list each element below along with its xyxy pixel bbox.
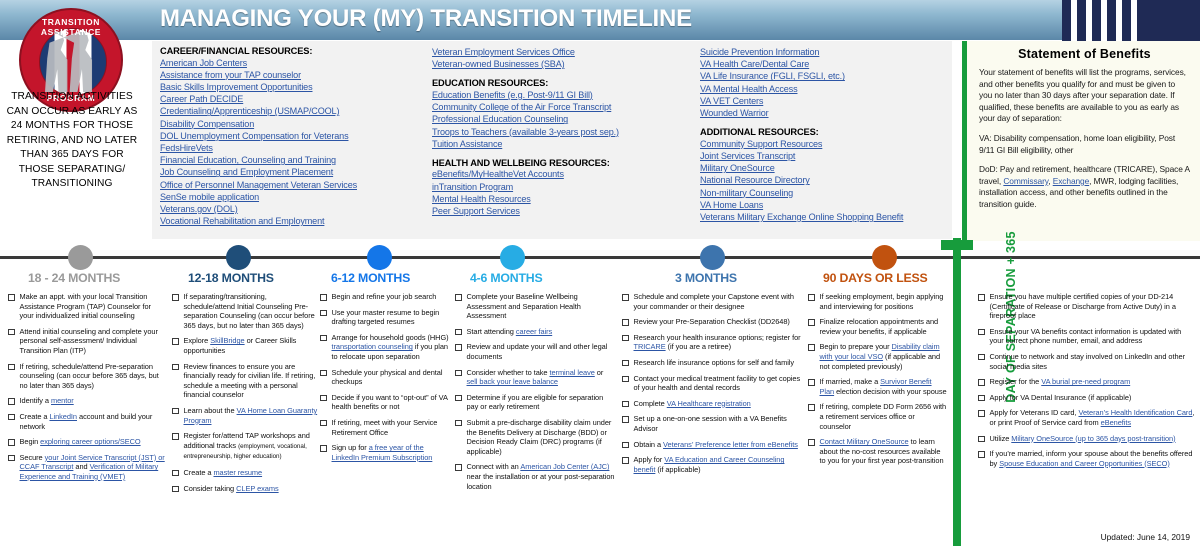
checklist-link[interactable]: LinkedIn	[49, 412, 77, 421]
checklist-text-run: Secure	[20, 453, 45, 462]
flag-stripe-8	[1122, 0, 1131, 42]
checklist-text-run: Arrange for household goods (HHG)	[332, 333, 449, 342]
timeline-label-5: 90 DAYS OR LESS	[823, 271, 928, 285]
checkbox-icon[interactable]	[978, 329, 985, 336]
checklist-item-text: Create a LinkedIn account and build your…	[20, 412, 167, 431]
checklist-item[interactable]: Use your master resume to begin drafting…	[320, 308, 453, 327]
intro-text: TRANSITION ACTIVITIES CAN OCCUR AS EARLY…	[4, 90, 140, 192]
checklist-item-text: Finalize relocation appointments and rev…	[820, 317, 949, 336]
resource-link[interactable]: VA Health Care/Dental Care	[700, 58, 948, 70]
checklist-item-text: Determine if you are eligible for separa…	[467, 393, 616, 412]
checklist-text-run: Begin and refine your job search	[332, 292, 437, 301]
checklist-item-text: If retiring, meet with your Service Reti…	[332, 418, 454, 437]
checkbox-icon[interactable]	[320, 310, 327, 317]
checklist-item-text: Submit a pre-discharge disability claim …	[467, 418, 616, 456]
checklist-text-run: Learn about the	[184, 406, 237, 415]
checkbox-icon[interactable]	[455, 344, 462, 351]
checklist-link[interactable]: VA burial pre-need program	[1041, 377, 1130, 386]
timeline-dot-0	[68, 245, 93, 270]
checklist-link[interactable]: transportation counseling	[332, 342, 413, 351]
checklist-item[interactable]: Connect with an American Job Center (AJC…	[455, 462, 615, 491]
checklist-text-run: If seeking employment, begin applying an…	[820, 292, 944, 311]
checkbox-icon[interactable]	[172, 470, 179, 477]
checklist-link[interactable]: sell back your leave balance	[467, 377, 558, 386]
col-day-of-separation-plus-365: Ensure you have multiple certified copie…	[978, 292, 1196, 474]
resources-section-gap	[700, 119, 948, 127]
flag-stripe-10	[1137, 0, 1200, 42]
timeline-dot-3	[500, 245, 525, 270]
checkbox-icon[interactable]	[622, 335, 629, 342]
checklist-text-run: If retiring, complete DD Form 2656 with …	[820, 402, 947, 430]
checklist-item[interactable]: Register for/attend TAP workshops and ad…	[172, 431, 320, 462]
checklist-text-run: Utilize	[990, 434, 1012, 443]
checklist-text-run: (if applicable)	[655, 465, 700, 474]
sob-paragraph-1: Your statement of benefits will list the…	[979, 67, 1190, 125]
checklist-item[interactable]: Arrange for household goods (HHG) transp…	[320, 333, 453, 362]
timeline-dot-5	[872, 245, 897, 270]
checkbox-icon[interactable]	[8, 329, 15, 336]
checklist-link[interactable]: eBenefits	[1101, 418, 1131, 427]
checklist-item[interactable]: Create a LinkedIn account and build your…	[8, 412, 166, 431]
checkbox-icon[interactable]	[622, 442, 629, 449]
checklist-link[interactable]: TRICARE	[634, 342, 666, 351]
checklist-text-run: Register for the	[990, 377, 1042, 386]
checklist-text-run: Ensure you have multiple certified copie…	[990, 292, 1176, 320]
checkbox-icon[interactable]	[172, 294, 179, 301]
checklist-item[interactable]: Ensure you have multiple certified copie…	[978, 292, 1196, 321]
checklist-item[interactable]: Consider taking CLEP exams	[172, 484, 320, 494]
checklist-item[interactable]: Continue to network and stay involved on…	[978, 352, 1196, 371]
checklist-text-run: Obtain a	[634, 440, 664, 449]
checklist-item[interactable]: Sign up for a free year of the LinkedIn …	[320, 443, 453, 462]
resource-link[interactable]: Veterans.gov (DOL)	[160, 203, 420, 215]
checklist-item-text: Explore SkillBridge or Career Skills opp…	[184, 336, 321, 355]
checklist-text-run: Apply for Veterans ID card,	[990, 408, 1079, 417]
checklist-item[interactable]: Apply for VA Education and Career Counse…	[622, 455, 804, 474]
checklist-item[interactable]: Review finances to ensure you are financ…	[172, 362, 320, 400]
resource-link[interactable]: Career Path DECIDE	[160, 93, 420, 105]
checkbox-icon[interactable]	[978, 379, 985, 386]
checklist-item[interactable]: Review your Pre-Separation Checklist (DD…	[622, 317, 804, 327]
statement-of-benefits-title: Statement of Benefits	[979, 47, 1190, 61]
checkbox-icon[interactable]	[622, 376, 629, 383]
resources-panel: CAREER/FINANCIAL RESOURCES:American Job …	[152, 41, 952, 239]
checklist-item[interactable]: Secure your Joint Service Transcript (JS…	[8, 453, 166, 482]
timeline-dot-1	[226, 245, 251, 270]
checklist-item-text: If separating/transitioning, schedule/at…	[184, 292, 321, 330]
page-title: MANAGING YOUR (MY) TRANSITION TIMELINE	[160, 5, 692, 33]
checklist-item[interactable]: Consider whether to take terminal leave …	[455, 368, 615, 387]
checklist-item-text: Apply for Veterans ID card, Veteran’s He…	[990, 408, 1197, 427]
checkbox-icon[interactable]	[978, 436, 985, 443]
checkbox-icon[interactable]	[8, 455, 15, 462]
checkbox-icon[interactable]	[320, 294, 327, 301]
resource-link[interactable]: Community College of the Air Force Trans…	[432, 101, 688, 113]
timeline-dot-4	[700, 245, 725, 270]
checklist-text-run: and	[73, 462, 89, 471]
checklist-item[interactable]: If retiring, meet with your Service Reti…	[320, 418, 453, 437]
checklist-link[interactable]: mentor	[51, 396, 74, 405]
col-4-6-months: Complete your Baseline Wellbeing Assessm…	[455, 292, 615, 497]
resource-link[interactable]: VA Life Insurance (FGLI, FSGLI, etc.)	[700, 70, 948, 82]
col-90-days-or-less: If seeking employment, begin applying an…	[808, 292, 948, 472]
checklist-item-text: If retiring, complete DD Form 2656 with …	[820, 402, 949, 431]
col-18-24-months: Make an appt. with your local Transition…	[8, 292, 166, 488]
flag-stripe-2	[1077, 0, 1086, 42]
resources-section-heading: HEALTH AND WELLBEING RESOURCES:	[432, 158, 688, 168]
checklist-text-run: Complete your Baseline Wellbeing Assessm…	[467, 292, 581, 320]
checklist-item-text: Begin to prepare your Disability claim w…	[820, 342, 949, 371]
checklist-item[interactable]: Begin exploring career options/SECO	[8, 437, 166, 447]
timeline-infographic: MANAGING YOUR (MY) TRANSITION TIMELINE T…	[0, 0, 1200, 546]
checklist-item-text: Identify a mentor	[20, 396, 74, 406]
logo-top-text: TRANSITION ASSISTANCE	[21, 17, 121, 37]
resource-link[interactable]: Military OneSource	[700, 162, 948, 174]
checklist-item-text: Make an appt. with your local Transition…	[20, 292, 167, 321]
checkbox-icon[interactable]	[172, 486, 179, 493]
checklist-item[interactable]: If you’re married, inform your spouse ab…	[978, 449, 1196, 468]
resources-section-heading: EDUCATION RESOURCES:	[432, 78, 688, 88]
resource-link[interactable]: Mental Health Resources	[432, 193, 688, 205]
checklist-item[interactable]: If married, make a Survivor Benefit Plan…	[808, 377, 948, 396]
resource-link[interactable]: Job Counseling and Employment Placement	[160, 166, 420, 178]
checklist-item[interactable]: Start attending career fairs	[455, 327, 615, 337]
flag-stripes-decoration	[1062, 0, 1200, 42]
checklist-item-text: Ensure you have multiple certified copie…	[990, 292, 1197, 321]
checklist-item[interactable]: Research life insurance options for self…	[622, 358, 804, 368]
checklist-text-run: Sign up for	[332, 443, 369, 452]
checklist-item-text: Secure your Joint Service Transcript (JS…	[20, 453, 167, 482]
checklist-text-run: Complete	[634, 399, 667, 408]
checklist-item-text: Research your health insurance options; …	[634, 333, 805, 352]
resource-link[interactable]: inTransition Program	[432, 181, 688, 193]
exchange-link[interactable]: Exchange	[1053, 176, 1089, 186]
checklist-item[interactable]: Begin and refine your job search	[320, 292, 453, 302]
checkbox-icon[interactable]	[978, 354, 985, 361]
checklist-item[interactable]: Set up a one-on-one session with a VA Be…	[622, 414, 804, 433]
checkbox-icon[interactable]	[978, 410, 985, 417]
resource-link[interactable]: VA VET Centers	[700, 95, 948, 107]
checklist-link[interactable]: Spouse Education and Career Opportunitie…	[999, 459, 1170, 468]
timeline-label-4: 3 MONTHS	[675, 271, 737, 285]
resource-link[interactable]: SenSe mobile application	[160, 191, 420, 203]
checkbox-icon[interactable]	[455, 395, 462, 402]
checklist-link[interactable]: Veteran’s Health Identification Card	[1078, 408, 1192, 417]
checklist-link[interactable]: terminal leave	[549, 368, 594, 377]
checklist-item[interactable]: Register for the VA burial pre-need prog…	[978, 377, 1196, 387]
checklist-item[interactable]: Make an appt. with your local Transition…	[8, 292, 166, 321]
timeline-axis	[0, 256, 1200, 259]
checkbox-icon[interactable]	[808, 439, 815, 446]
checklist-item-text: Review finances to ensure you are financ…	[184, 362, 321, 400]
checklist-item-text: If married, make a Survivor Benefit Plan…	[820, 377, 949, 396]
resource-link[interactable]: Suicide Prevention Information	[700, 46, 948, 58]
checklist-item[interactable]: If retiring, complete DD Form 2656 with …	[808, 402, 948, 431]
checklist-item[interactable]: Learn about the VA Home Loan Guaranty Pr…	[172, 406, 320, 425]
checklist-text-run: Review and update your will and other le…	[467, 342, 608, 361]
checklist-link[interactable]: American Job Center (AJC)	[520, 462, 609, 471]
checklist-text-run: If separating/transitioning, schedule/at…	[184, 292, 315, 330]
checklist-item[interactable]: Complete your Baseline Wellbeing Assessm…	[455, 292, 615, 321]
checklist-item[interactable]: Finalize relocation appointments and rev…	[808, 317, 948, 336]
checkbox-icon[interactable]	[455, 294, 462, 301]
checklist-item-text: Attend initial counseling and complete y…	[20, 327, 167, 356]
resource-link[interactable]: Financial Education, Counseling and Trai…	[160, 154, 420, 166]
checklist-item-text: Utilize Military OneSource (up to 365 da…	[990, 434, 1176, 444]
checkbox-icon[interactable]	[172, 364, 179, 371]
checklist-item-text: Connect with an American Job Center (AJC…	[467, 462, 616, 491]
checklist-item[interactable]: Utilize Military OneSource (up to 365 da…	[978, 434, 1196, 444]
sob-paragraph-3: DoD: Pay and retirement, healthcare (TRI…	[979, 164, 1190, 210]
checklist-link[interactable]: Contact Military OneSource	[820, 437, 909, 446]
checklist-text-run: Contact your medical treatment facility …	[634, 374, 801, 393]
checkbox-icon[interactable]	[808, 294, 815, 301]
checklist-text-run: Identify a	[20, 396, 52, 405]
resources-section-gap	[432, 150, 688, 158]
checklist-text-run: (if you are a retiree)	[666, 342, 731, 351]
resource-link[interactable]: VA Mental Health Access	[700, 83, 948, 95]
resource-link[interactable]: Basic Skills Improvement Opportunities	[160, 81, 420, 93]
checklist-link[interactable]: master resume	[213, 468, 262, 477]
checklist-item-text: Use your master resume to begin drafting…	[332, 308, 454, 327]
timeline-vertical-bar	[953, 238, 961, 546]
resources-column-1: CAREER/FINANCIAL RESOURCES:American Job …	[152, 41, 424, 239]
checkbox-icon[interactable]	[622, 416, 629, 423]
checklist-link[interactable]: CLEP exams	[236, 484, 279, 493]
checklist-text-run: or	[595, 368, 603, 377]
checkbox-icon[interactable]	[978, 294, 985, 301]
checklist-link[interactable]: Veterans’ Preference letter from eBenefi…	[663, 440, 798, 449]
checklist-text-run: Finalize relocation appointments and rev…	[820, 317, 939, 336]
checkbox-icon[interactable]	[172, 408, 179, 415]
resources-column-2: Veteran Employment Services OfficeVetera…	[424, 41, 692, 239]
checklist-item[interactable]: If seeking employment, begin applying an…	[808, 292, 948, 311]
checklist-item-text: Schedule and complete your Capstone even…	[634, 292, 805, 311]
resources-section-heading: ADDITIONAL RESOURCES:	[700, 127, 948, 137]
checkbox-icon[interactable]	[320, 445, 327, 452]
checklist-link[interactable]: exploring career options/SECO	[40, 437, 140, 446]
checkbox-icon[interactable]	[622, 401, 629, 408]
checkbox-icon[interactable]	[455, 370, 462, 377]
flag-stripe-4	[1092, 0, 1101, 42]
checklist-item-text: Schedule your physical and dental checku…	[332, 368, 454, 387]
checkbox-icon[interactable]	[622, 319, 629, 326]
checkbox-icon[interactable]	[808, 404, 815, 411]
checkbox-icon[interactable]	[978, 451, 985, 458]
resource-link[interactable]: Vocational Rehabilitation and Employment	[160, 215, 420, 227]
checklist-item[interactable]: If retiring, schedule/attend Pre-separat…	[8, 362, 166, 391]
checklist-item-text: Learn about the VA Home Loan Guaranty Pr…	[184, 406, 321, 425]
checklist-text-run: election decision with your spouse	[834, 387, 946, 396]
checklist-item[interactable]: Ensure your VA benefits contact informat…	[978, 327, 1196, 346]
checklist-text-run: Review your Pre-Separation Checklist (DD…	[634, 317, 790, 326]
statement-of-benefits-panel: Statement of Benefits Your statement of …	[962, 41, 1200, 241]
resource-link[interactable]: DOL Unemployment Compensation for Vetera…	[160, 130, 420, 142]
timeline-label-1: 12-18 MONTHS	[188, 271, 274, 285]
checklist-item[interactable]: Begin to prepare your Disability claim w…	[808, 342, 948, 371]
checklist-item-text: If seeking employment, begin applying an…	[820, 292, 949, 311]
checklist-item[interactable]: Obtain a Veterans’ Preference letter fro…	[622, 440, 804, 450]
checklist-text-run: Schedule your physical and dental checku…	[332, 368, 443, 387]
checkbox-icon[interactable]	[455, 464, 462, 471]
checklist-item[interactable]: Contact your medical treatment facility …	[622, 374, 804, 393]
checklist-text-run: Decide if you want to “opt-out” of VA he…	[332, 393, 448, 412]
checklist-item[interactable]: Attend initial counseling and complete y…	[8, 327, 166, 356]
resource-link[interactable]: FedsHireVets	[160, 142, 420, 154]
checkbox-icon[interactable]	[172, 338, 179, 345]
checklist-item-text: Contact your medical treatment facility …	[634, 374, 805, 393]
resource-link[interactable]: Veterans Military Exchange Online Shoppi…	[700, 211, 948, 223]
resource-link[interactable]: Assistance from your TAP counselor	[160, 69, 420, 81]
resource-link[interactable]: Disability Compensation	[160, 118, 420, 130]
checkbox-icon[interactable]	[8, 398, 15, 405]
checklist-item-text: Review your Pre-Separation Checklist (DD…	[634, 317, 790, 327]
checklist-text-run: Schedule and complete your Capstone even…	[634, 292, 794, 311]
checkbox-icon[interactable]	[8, 439, 15, 446]
checklist-text-run: Determine if you are eligible for separa…	[467, 393, 604, 412]
checklist-text-run: Explore	[184, 336, 211, 345]
checklist-item-text: Start attending career fairs	[467, 327, 553, 337]
col-12-18-months: If separating/transitioning, schedule/at…	[172, 292, 320, 499]
checklist-item[interactable]: Research your health insurance options; …	[622, 333, 804, 352]
checklist-text-run: Continue to network and stay involved on…	[990, 352, 1186, 371]
checklist-item-text: Apply for VA Education and Career Counse…	[634, 455, 805, 474]
checklist-text-run: Review finances to ensure you are financ…	[184, 362, 316, 400]
checklist-text-run: Begin	[20, 437, 41, 446]
checklist-item-text: Research life insurance options for self…	[634, 358, 795, 368]
resource-link[interactable]: National Resource Directory	[700, 174, 948, 186]
checklist-item-text: If retiring, schedule/attend Pre-separat…	[20, 362, 167, 391]
checklist-item-text: Complete VA Healthcare registration	[634, 399, 751, 409]
timeline-label-0: 18 - 24 MONTHS	[28, 271, 120, 285]
checkbox-icon[interactable]	[808, 344, 815, 351]
checklist-item-text: Set up a one-on-one session with a VA Be…	[634, 414, 805, 433]
sob-paragraph-2: VA: Disability compensation, home loan e…	[979, 133, 1190, 156]
col-3-months: Schedule and complete your Capstone even…	[622, 292, 804, 480]
checkbox-icon[interactable]	[320, 335, 327, 342]
resource-link[interactable]: Troops to Teachers (available 3-years po…	[432, 126, 688, 138]
resource-link[interactable]: Wounded Warrior	[700, 107, 948, 119]
checklist-item-text: Arrange for household goods (HHG) transp…	[332, 333, 454, 362]
col-6-12-months: Begin and refine your job searchUse your…	[320, 292, 453, 468]
checklist-text-run: Use your master resume to begin drafting…	[332, 308, 440, 327]
timeline-label-2: 6-12 MONTHS	[331, 271, 410, 285]
resource-link[interactable]: Education Benefits (e.g. Post-9/11 GI Bi…	[432, 89, 688, 101]
checklist-item-text: Register for/attend TAP workshops and ad…	[184, 431, 321, 462]
resource-link[interactable]: Veteran Employment Services Office	[432, 46, 688, 58]
checklist-item[interactable]: Contact Military OneSource to learn abou…	[808, 437, 948, 466]
resource-link[interactable]: Peer Support Services	[432, 205, 688, 217]
checklist-item[interactable]: Determine if you are eligible for separa…	[455, 393, 615, 412]
checkbox-icon[interactable]	[320, 420, 327, 427]
flag-stripe-0	[1062, 0, 1071, 42]
checklist-item-text: Begin and refine your job search	[332, 292, 437, 302]
checkbox-icon[interactable]	[8, 414, 15, 421]
checklist-link[interactable]: career fairs	[516, 327, 552, 336]
checklist-link[interactable]: SkillBridge	[210, 336, 244, 345]
checklist-text-run: Create a	[184, 468, 214, 477]
checklist-item[interactable]: Identify a mentor	[8, 396, 166, 406]
checklist-item-text: Decide if you want to “opt-out” of VA he…	[332, 393, 454, 412]
checklist-link[interactable]: VA Healthcare registration	[667, 399, 751, 408]
checklist-item[interactable]: Explore SkillBridge or Career Skills opp…	[172, 336, 320, 355]
checklist-text-run: Ensure your VA benefits contact informat…	[990, 327, 1182, 346]
checkbox-icon[interactable]	[455, 420, 462, 427]
checklist-item[interactable]: Schedule and complete your Capstone even…	[622, 292, 804, 311]
resource-link[interactable]: VA Home Loans	[700, 199, 948, 211]
checkbox-icon[interactable]	[455, 329, 462, 336]
checkbox-icon[interactable]	[320, 370, 327, 377]
checklist-text-run: Start attending	[467, 327, 516, 336]
resource-link[interactable]: Community Support Resources	[700, 138, 948, 150]
resource-link[interactable]: Office of Personnel Management Veteran S…	[160, 179, 420, 191]
checkbox-icon[interactable]	[622, 360, 629, 367]
flag-stripe-6	[1107, 0, 1116, 42]
resource-link[interactable]: Credentialing/Apprenticeship (USMAP/COOL…	[160, 105, 420, 117]
resource-link[interactable]: Tuition Assistance	[432, 138, 688, 150]
checklist-item-text: Complete your Baseline Wellbeing Assessm…	[467, 292, 616, 321]
checklist-text-run: Apply for VA Dental Insurance (if applic…	[990, 393, 1132, 402]
checkbox-icon[interactable]	[8, 364, 15, 371]
resource-link[interactable]: Veteran-owned Businesses (SBA)	[432, 58, 688, 70]
checklist-text-run: Connect with an	[467, 462, 521, 471]
checklist-text-run: If married, make a	[820, 377, 881, 386]
timeline-dot-2	[367, 245, 392, 270]
checkbox-icon[interactable]	[8, 294, 15, 301]
updated-date: Updated: June 14, 2019	[1101, 532, 1190, 542]
checkbox-icon[interactable]	[320, 395, 327, 402]
checklist-item-text: Begin exploring career options/SECO	[20, 437, 141, 447]
checklist-text-run: Submit a pre-discharge disability claim …	[467, 418, 612, 456]
checklist-text-run: Begin to prepare your	[820, 342, 892, 351]
checklist-item[interactable]: Submit a pre-discharge disability claim …	[455, 418, 615, 456]
checklist-item[interactable]: Decide if you want to “opt-out” of VA he…	[320, 393, 453, 412]
resource-link[interactable]: eBenefits/MyHealtheVet Accounts	[432, 168, 688, 180]
checklist-text-run: Attend initial counseling and complete y…	[20, 327, 158, 355]
checklist-text-run: Consider taking	[184, 484, 237, 493]
checklist-item[interactable]: Create a master resume	[172, 468, 320, 478]
resource-link[interactable]: Professional Education Counseling	[432, 113, 688, 125]
checkbox-icon[interactable]	[808, 319, 815, 326]
checklist-text-run: Apply for	[634, 455, 665, 464]
checklist-item-text: Consider taking CLEP exams	[184, 484, 279, 494]
resource-link[interactable]: Joint Services Transcript	[700, 150, 948, 162]
resource-link[interactable]: Non-military Counseling	[700, 187, 948, 199]
checklist-item[interactable]: Complete VA Healthcare registration	[622, 399, 804, 409]
checkbox-icon[interactable]	[622, 457, 629, 464]
checklist-item[interactable]: If separating/transitioning, schedule/at…	[172, 292, 320, 330]
checklist-item-text: Apply for VA Dental Insurance (if applic…	[990, 393, 1132, 403]
checklist-item-text: If you’re married, inform your spouse ab…	[990, 449, 1197, 468]
checkbox-icon[interactable]	[172, 433, 179, 440]
commissary-link[interactable]: Commissary	[1003, 176, 1048, 186]
checklist-text-run: near the installation or at your post-se…	[467, 472, 615, 491]
checklist-text-run: If retiring, schedule/attend Pre-separat…	[20, 362, 159, 390]
checklist-text-run: Make an appt. with your local Transition…	[20, 292, 151, 320]
checklist-item-text: Consider whether to take terminal leave …	[467, 368, 616, 387]
resource-link[interactable]: American Job Centers	[160, 57, 420, 69]
checklist-item[interactable]: Apply for Veterans ID card, Veteran’s He…	[978, 408, 1196, 427]
checkbox-icon[interactable]	[622, 294, 629, 301]
checklist-text-run: If retiring, meet with your Service Reti…	[332, 418, 438, 437]
checklist-item[interactable]: Apply for VA Dental Insurance (if applic…	[978, 393, 1196, 403]
checklist-link[interactable]: Military OneSource (up to 365 days post-…	[1011, 434, 1175, 443]
checkbox-icon[interactable]	[978, 395, 985, 402]
checklist-item[interactable]: Review and update your will and other le…	[455, 342, 615, 361]
checkbox-icon[interactable]	[808, 379, 815, 386]
checklist-item-text: Review and update your will and other le…	[467, 342, 616, 361]
checklist-item[interactable]: Schedule your physical and dental checku…	[320, 368, 453, 387]
